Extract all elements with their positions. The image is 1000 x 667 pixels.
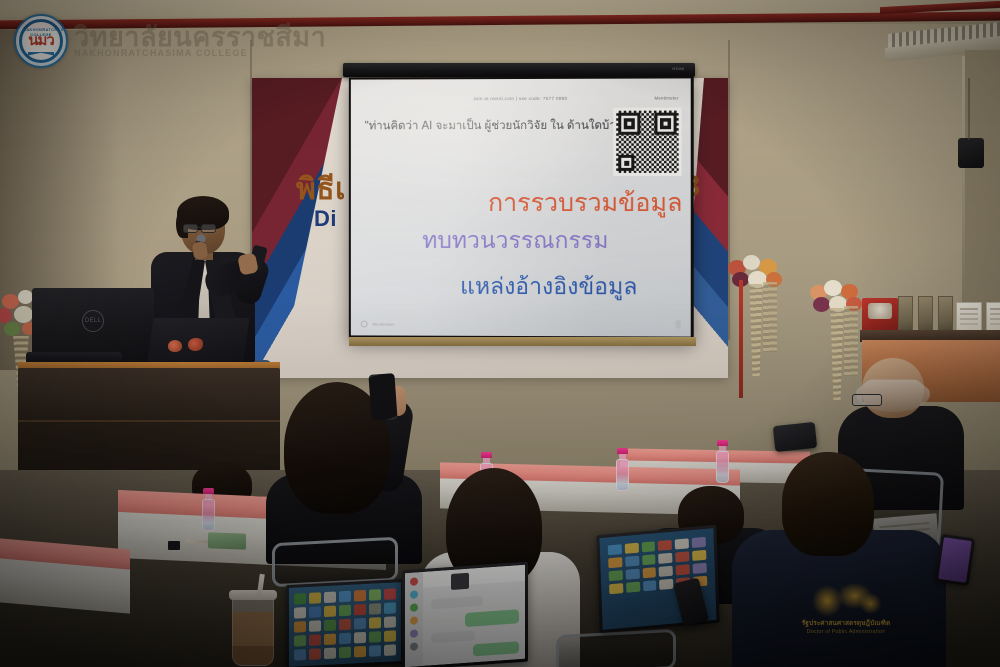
tablet-screen[interactable] bbox=[289, 582, 401, 667]
chair bbox=[556, 629, 676, 667]
water-bottle bbox=[616, 448, 629, 491]
wall-speaker-icon bbox=[958, 138, 984, 168]
conference-photo-scene: NAKHONRATCHASIMA COLLEGE นมว วิทยาลัยนคร… bbox=[0, 0, 1000, 667]
tablet-device[interactable] bbox=[286, 579, 404, 667]
smartphone-on-table[interactable] bbox=[773, 422, 817, 452]
chat-sidebar[interactable] bbox=[405, 572, 423, 667]
present-icon bbox=[676, 320, 681, 328]
projection-screen: Join at menti.com | use code: 7677 0880 … bbox=[349, 76, 694, 339]
water-bottle bbox=[202, 488, 215, 531]
housing-label: HDMI bbox=[672, 66, 685, 71]
word-cloud: การรวบรวมข้อมูล ทบทวนวรรณกรรม แหล่งอ้างอ… bbox=[351, 177, 691, 298]
podium-edge bbox=[18, 420, 280, 422]
gift-box bbox=[862, 298, 898, 332]
laptop-sticker-icon bbox=[188, 338, 203, 351]
mentimeter-qr-code-icon bbox=[616, 111, 678, 173]
smartphone-icon bbox=[368, 373, 397, 421]
audience-member-navy-jacket: รัฐประศาสนศาสตรดุษฎีบัณฑิต Doctor of Pub… bbox=[726, 452, 956, 667]
word-cloud-item: ทบทวนวรรณกรรม bbox=[422, 223, 608, 259]
menti-join-bar: Join at menti.com | use code: 7677 0880 bbox=[351, 95, 691, 101]
menti-code-text: Join at menti.com | use code: 7677 0880 bbox=[473, 96, 567, 101]
jacket-thai-text: รัฐประศาสนศาสตรดุษฎีบัณฑิต bbox=[786, 620, 906, 628]
watermark: NAKHONRATCHASIMA COLLEGE นมว วิทยาลัยนคร… bbox=[14, 14, 326, 68]
slide-footer-left: Mentimeter bbox=[361, 321, 395, 328]
smartphone-device[interactable] bbox=[935, 534, 975, 586]
college-seal-icon: NAKHONRATCHASIMA COLLEGE นมว bbox=[14, 14, 68, 68]
slide-surface: Join at menti.com | use code: 7677 0880 … bbox=[351, 78, 691, 336]
menti-brand-label: Mentimeter bbox=[654, 96, 678, 101]
phone-screen[interactable] bbox=[938, 537, 972, 582]
speaker-mount-bracket bbox=[968, 78, 970, 140]
eyeglasses-bridge bbox=[198, 227, 202, 228]
eyeglasses-icon bbox=[201, 224, 216, 233]
watermark-thai-name: วิทยาลัยนครราชสีมา bbox=[74, 23, 326, 51]
notebook bbox=[208, 532, 246, 549]
slide-question: "ท่านคิดว่า AI จะมาเป็น ผู้ช่วยนักวิจัย … bbox=[365, 119, 598, 134]
lock-icon bbox=[659, 321, 670, 328]
slide-footer-text: Mentimeter bbox=[373, 322, 395, 327]
seal-arc-text: NAKHONRATCHASIMA COLLEGE bbox=[23, 27, 59, 37]
jacket-english-text: Doctor of Public Administration bbox=[786, 629, 906, 635]
wall-floral-arrangement bbox=[726, 254, 786, 384]
eyeglasses-icon bbox=[183, 224, 198, 233]
slide-footer-controls bbox=[659, 320, 680, 328]
laptop-chat-app[interactable] bbox=[402, 562, 528, 667]
word-cloud-item: แหล่งอ้างอิงข้อมูล bbox=[460, 269, 637, 305]
laptop-screen[interactable] bbox=[405, 565, 525, 667]
presenter-hand-left bbox=[192, 241, 209, 260]
avatar bbox=[451, 573, 469, 590]
dell-logo-icon: DELL bbox=[82, 310, 104, 332]
menti-dot-icon bbox=[361, 321, 368, 328]
open-book-icon bbox=[28, 49, 54, 56]
projector-screen-housing: HDMI bbox=[343, 63, 695, 77]
binder-clip bbox=[168, 541, 180, 550]
crest-icon bbox=[810, 580, 882, 618]
banner-english-title: Di bbox=[314, 206, 337, 232]
drink-cup bbox=[232, 596, 274, 666]
laptop-sticker-icon bbox=[168, 340, 182, 352]
word-cloud-item: การรวบรวมข้อมูล bbox=[488, 183, 682, 223]
screen-bottom-bar bbox=[349, 337, 696, 346]
product-display-items bbox=[898, 296, 998, 334]
audience-member-photographing bbox=[262, 378, 442, 558]
jacket-emblem: รัฐประศาสนศาสตรดุษฎีบัณฑิต Doctor of Pub… bbox=[786, 580, 906, 656]
cup-lid bbox=[229, 590, 277, 600]
eyeglasses-icon bbox=[852, 394, 882, 406]
app-icon-grid[interactable] bbox=[294, 588, 396, 660]
